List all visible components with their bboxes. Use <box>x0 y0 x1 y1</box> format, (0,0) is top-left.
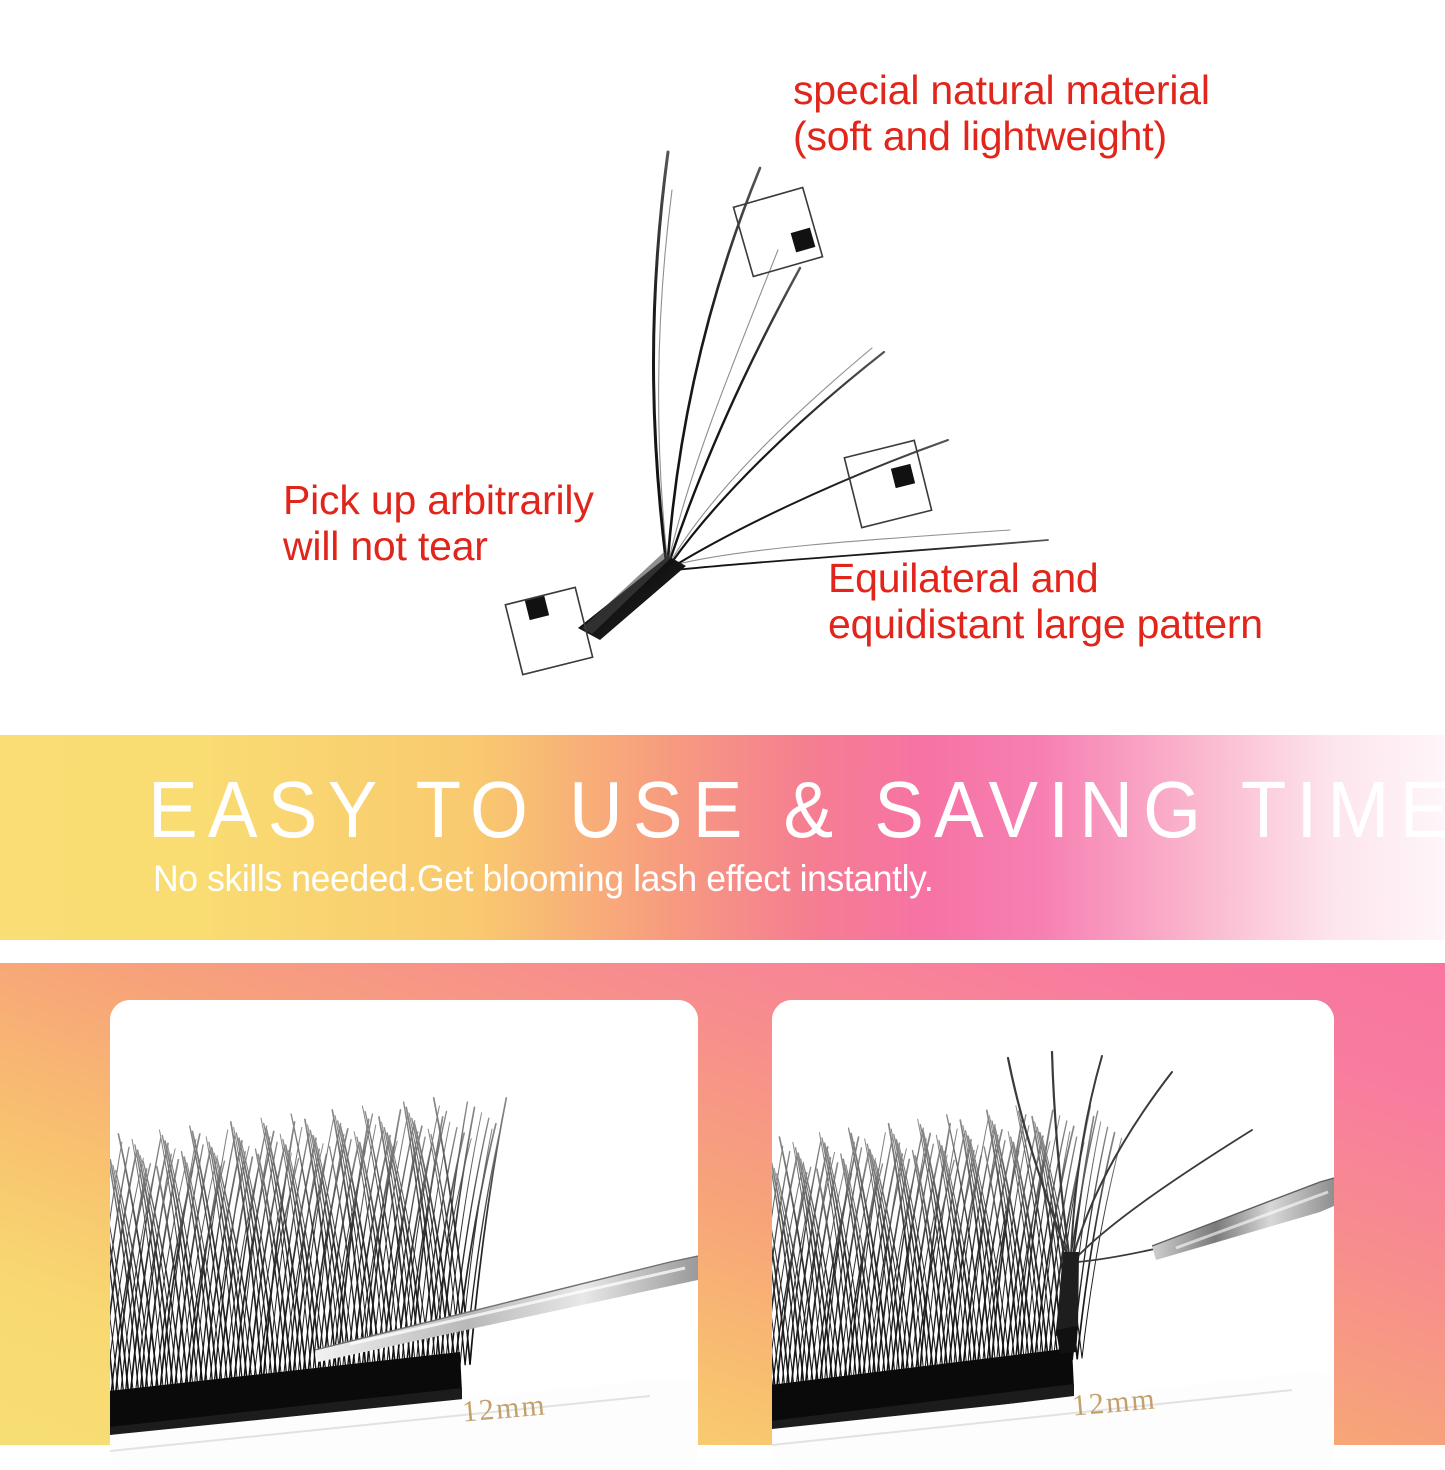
lash-fan-lifted-illustration <box>772 1000 1334 1470</box>
banner-headline: EASY TO USE & SAVING TIME <box>148 770 1245 850</box>
callout-marker-right <box>844 440 931 527</box>
banner-subheadline: No skills needed.Get blooming lash effec… <box>153 858 933 900</box>
lash-tray-illustration <box>110 1000 698 1470</box>
lash-fan-base <box>578 552 686 640</box>
lash-fibers <box>654 152 1049 570</box>
photo-card-lash-fan-lifted: 12mm <box>772 1000 1334 1470</box>
lash-fibers-secondary <box>659 190 1010 565</box>
callout-equilateral-equidistant: Equilateral and equidistant large patter… <box>828 556 1263 648</box>
photo-card-lash-tray: 12mm <box>110 1000 698 1470</box>
callout-marker-base <box>505 587 592 674</box>
feature-diagram-section: special natural material (soft and light… <box>0 0 1445 735</box>
callout-pick-up-arbitrarily: Pick up arbitrarily will not tear <box>283 478 594 570</box>
callout-special-natural-material: special natural material (soft and light… <box>793 68 1210 160</box>
